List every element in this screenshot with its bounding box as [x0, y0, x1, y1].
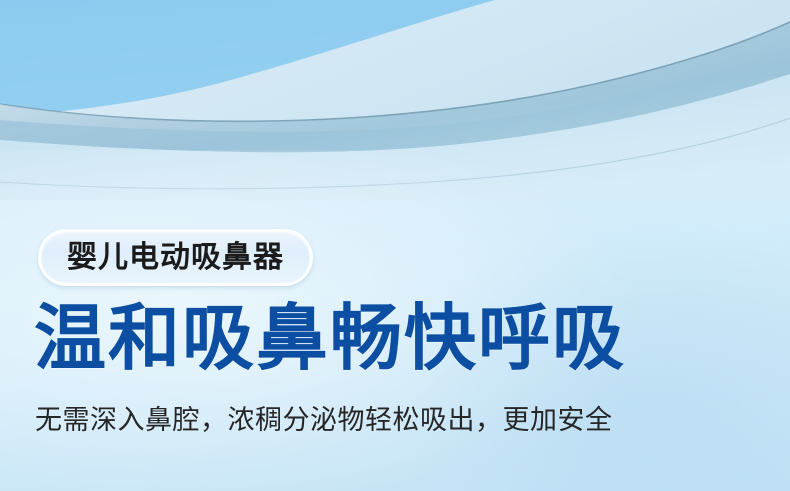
product-banner-poster: 婴儿电动吸鼻器 温和吸鼻畅快呼吸 无需深入鼻腔，浓稠分泌物轻松吸出，更加安全 [0, 0, 790, 491]
product-category-badge: 婴儿电动吸鼻器 [38, 229, 313, 286]
poster-subtitle: 无需深入鼻腔，浓稠分泌物轻松吸出，更加安全 [35, 404, 613, 438]
product-category-badge-label: 婴儿电动吸鼻器 [67, 243, 284, 273]
poster-content: 婴儿电动吸鼻器 温和吸鼻畅快呼吸 无需深入鼻腔，浓稠分泌物轻松吸出，更加安全 [0, 0, 790, 491]
poster-headline: 温和吸鼻畅快呼吸 [34, 303, 626, 375]
